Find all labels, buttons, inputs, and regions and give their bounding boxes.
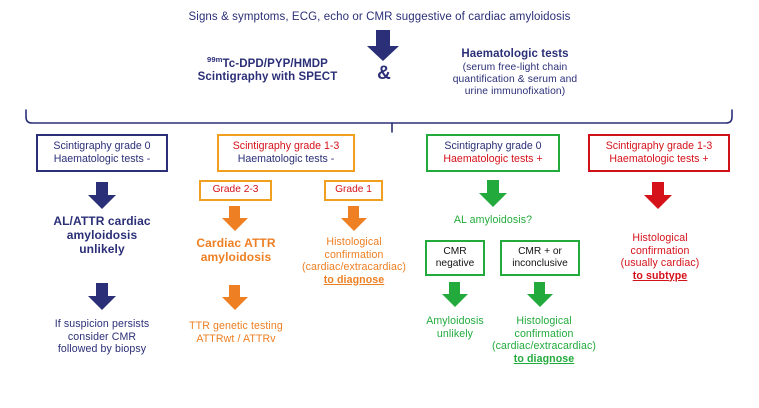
branch-red-result: Histological confirmation (usually cardi…	[598, 232, 722, 282]
branch-red-arrow-icon	[643, 182, 673, 210]
branch-orange-grade1-arrow-icon	[340, 206, 368, 232]
scintigraphy-tracer: Tc-DPD/PYP/HMDP	[223, 58, 328, 70]
cmr-negative-line-2: negative	[436, 258, 475, 270]
branch-navy-followup: If suspicion persists consider CMR follo…	[14, 318, 190, 356]
cmr-positive-result-line-1: Histological	[486, 315, 602, 328]
branch-orange-grade23-followup: TTR genetic testing ATTRwt / ATTRv	[175, 320, 297, 345]
branch-navy-arrow-2-icon	[87, 283, 117, 311]
branch-navy-arrow-1-icon	[87, 182, 117, 210]
branch-navy-result-line-3: unlikely	[16, 242, 188, 256]
branch-orange-ttr-arrow-icon	[221, 285, 249, 311]
branch-red-result-line-1: Histological	[598, 232, 722, 245]
branch-red-criteria-box: Scintigraphy grade 1-3 Haematologic test…	[588, 134, 730, 172]
tc99m-superscript: 99m	[207, 55, 223, 64]
branch-navy-result: AL/ATTR cardiac amyloidosis unlikely	[16, 214, 188, 256]
branch-red-result-line-2: confirmation	[598, 245, 722, 258]
cmr-positive-result-line-2: confirmation	[486, 328, 602, 341]
cmr-positive-line-2: inconclusive	[512, 258, 568, 270]
branch-orange-grade23-result: Cardiac ATTR amyloidosis	[180, 236, 292, 264]
branch-orange-grade23-result-line-1: Cardiac ATTR	[180, 236, 292, 250]
cmr-positive-result-line-3: (cardiac/extracardiac)	[486, 340, 602, 353]
branch-bracket	[0, 104, 759, 134]
branch-orange-followup-line-1: TTR genetic testing	[175, 320, 297, 333]
branch-orange-grade23-arrow-icon	[221, 206, 249, 232]
branch-navy-result-line-1: AL/ATTR cardiac	[16, 214, 188, 228]
branch-orange-grade1-label: Grade 1	[335, 184, 372, 196]
branch-green-line2: Haematologic tests +	[443, 153, 542, 166]
haematologic-heading: Haematologic tests	[405, 48, 625, 62]
branch-orange-criteria-box: Scintigraphy grade 1-3 Haematologic test…	[217, 134, 355, 172]
branch-green-line1: Scintigraphy grade 0	[443, 140, 542, 153]
branch-navy-followup-line-1: If suspicion persists	[14, 318, 190, 331]
branch-red-emphasis: to subtype	[598, 270, 722, 283]
branch-navy-criteria-box: Scintigraphy grade 0 Haematologic tests …	[36, 134, 168, 172]
branch-green-question: AL amyloidosis?	[418, 214, 568, 227]
cmr-positive-emphasis: to diagnose	[486, 353, 602, 366]
branch-orange-grade1-box: Grade 1	[324, 180, 383, 201]
branch-green-criteria-box: Scintigraphy grade 0 Haematologic tests …	[426, 134, 560, 172]
branch-orange-followup-line-2: ATTRwt / ATTRv	[175, 333, 297, 346]
branch-navy-followup-line-3: followed by biopsy	[14, 343, 190, 356]
top-down-arrow-icon	[366, 30, 400, 62]
cmr-negative-line-1: CMR	[436, 246, 475, 258]
branch-orange-grade1-result-line-1: Histological	[298, 236, 410, 249]
branch-orange-grade23-box: Grade 2-3	[199, 180, 272, 201]
scintigraphy-line2: Scintigraphy with SPECT	[170, 71, 365, 85]
branch-navy-followup-line-2: consider CMR	[14, 331, 190, 344]
branch-navy-line2: Haematologic tests -	[53, 153, 150, 166]
branch-orange-line2: Haematologic tests -	[233, 153, 340, 166]
branch-green-cmr-positive-box: CMR + or inconclusive	[500, 240, 580, 276]
branch-green-arrow-1-icon	[478, 180, 508, 208]
diagram-title: Signs & symptoms, ECG, echo or CMR sugge…	[0, 11, 759, 25]
branch-orange-grade23-label: Grade 2-3	[213, 184, 259, 196]
scintigraphy-test-block: 99mTc-DPD/PYP/HMDP Scintigraphy with SPE…	[170, 56, 365, 85]
haematologic-detail-2: quantification & serum and	[405, 74, 625, 86]
branch-red-line1: Scintigraphy grade 1-3	[606, 140, 713, 153]
branch-green-cmr-negative-box: CMR negative	[425, 240, 485, 276]
haematologic-test-block: Haematologic tests (serum free-light cha…	[405, 48, 625, 98]
branch-navy-result-line-2: amyloidosis	[16, 228, 188, 242]
branch-red-line2: Haematologic tests +	[606, 153, 713, 166]
branch-red-result-line-3: (usually cardiac)	[598, 257, 722, 270]
branch-orange-grade23-result-line-2: amyloidosis	[180, 250, 292, 264]
cmr-positive-line-1: CMR + or	[512, 246, 568, 258]
branch-green-cmr-negative-arrow-icon	[441, 282, 469, 308]
branch-green-cmr-positive-arrow-icon	[526, 282, 554, 308]
branch-orange-grade1-result: Histological confirmation (cardiac/extra…	[298, 236, 410, 286]
conjunction-ampersand: &	[373, 63, 395, 85]
branch-orange-grade1-result-line-2: confirmation	[298, 249, 410, 262]
branch-orange-grade1-result-line-3: (cardiac/extracardiac)	[298, 261, 410, 274]
branch-orange-grade1-emphasis: to diagnose	[298, 274, 410, 287]
branch-green-cmr-positive-result: Histological confirmation (cardiac/extra…	[486, 315, 602, 365]
scintigraphy-line1: 99mTc-DPD/PYP/HMDP	[170, 56, 365, 71]
branch-orange-line1: Scintigraphy grade 1-3	[233, 140, 340, 153]
flowchart-diagram: Signs & symptoms, ECG, echo or CMR sugge…	[0, 0, 759, 408]
haematologic-detail-1: (serum free-light chain	[405, 62, 625, 74]
haematologic-detail-3: urine immunofixation)	[405, 86, 625, 98]
branch-navy-line1: Scintigraphy grade 0	[53, 140, 150, 153]
